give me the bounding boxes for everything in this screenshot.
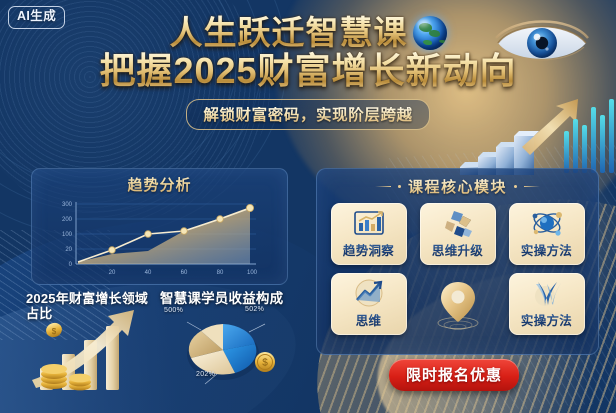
page-title-line1: 人生跃迁智慧课 [170, 14, 408, 52]
pin-wrapper [420, 278, 496, 336]
trend-line-chart: 300 200 100 20 0 20 40 60 80 100 [44, 196, 276, 284]
trend-analysis-title: 趋势分析 [32, 169, 287, 195]
cta-enroll-button[interactable]: 限时报名优惠 [389, 359, 519, 391]
title-line-2-row: 把握2025财富增长新动向 [0, 52, 616, 92]
svg-text:100: 100 [61, 232, 72, 238]
svg-text:80: 80 [216, 270, 223, 276]
title-line-1-row: 人生跃迁智慧课 [0, 14, 616, 52]
svg-text:0: 0 [68, 262, 72, 268]
ai-generated-badge: AI生成 [8, 6, 65, 29]
svg-text:40: 40 [144, 270, 151, 276]
module-label-practical-method: 实操方法 [521, 240, 572, 259]
title-dot-right [514, 185, 517, 188]
module-label-thinking: 思维 [356, 310, 382, 329]
module-card-location[interactable] [420, 273, 496, 335]
pie-label-2: 502% [245, 306, 264, 313]
module-label-thinking-upgrade: 思维升级 [432, 240, 483, 259]
svg-text:200: 200 [61, 217, 72, 223]
module-label-trend-insight: 趋势洞察 [343, 240, 394, 259]
module-card-trend-insight[interactable]: 趋势洞察 [331, 203, 407, 265]
puzzle-cluster-icon [441, 208, 475, 239]
title-dot-left [398, 185, 401, 188]
atom-network-icon [530, 208, 564, 239]
module-card-thinking[interactable]: 思维 [331, 273, 407, 335]
globe-icon [413, 16, 447, 50]
bar-chart-growth-icon [352, 208, 386, 239]
core-modules-panel: 课程核心模块 趋势洞察 [316, 168, 599, 355]
page-subtitle: 解锁财富密码，实现阶层跨越 [203, 107, 412, 124]
page-title-line2: 把握2025财富增长新动向 [99, 50, 516, 92]
poster-root: AI生成 [0, 0, 616, 413]
trend-analysis-panel: 趋势分析 300 200 100 [31, 168, 288, 285]
svg-text:$: $ [52, 327, 57, 336]
svg-text:100: 100 [246, 270, 257, 276]
core-modules-title: 课程核心模块 [408, 176, 507, 197]
module-card-thinking-upgrade[interactable]: 思维升级 [420, 203, 496, 265]
svg-text:60: 60 [180, 270, 187, 276]
pie-chart-icon: $ [165, 300, 290, 392]
modules-grid: 趋势洞察 思维升级 [317, 203, 598, 335]
svg-text:20: 20 [108, 270, 115, 276]
subtitle-pill: 解锁财富密码，实现阶层跨越 [186, 99, 429, 130]
svg-text:20: 20 [65, 247, 72, 253]
pie-label-1: 500% [164, 307, 183, 314]
core-modules-title-row: 课程核心模块 [317, 176, 598, 197]
title-dash-right [524, 186, 540, 188]
title-dash-left [375, 186, 391, 188]
module-label-practical-method-2: 实操方法 [521, 310, 572, 329]
wealth-growth-label: 2025年财富增长领域占比 [26, 291, 151, 321]
svg-text:$: $ [262, 358, 268, 369]
module-card-practical-method-2[interactable]: 实操方法 [509, 273, 585, 335]
headline-block: 人生跃迁智慧课 把握2025财富增长新动向 解锁财富密码，实现阶层跨越 [0, 14, 616, 130]
line-chart-arrow-icon [352, 278, 386, 309]
pie-label-3: 202% [196, 371, 215, 378]
checkmark-ribbon-icon [530, 278, 564, 309]
module-card-practical-method[interactable]: 实操方法 [509, 203, 585, 265]
location-pin-icon [431, 278, 485, 336]
student-income-label: 智慧课学员收益构成 [160, 291, 295, 306]
svg-text:300: 300 [61, 202, 72, 208]
